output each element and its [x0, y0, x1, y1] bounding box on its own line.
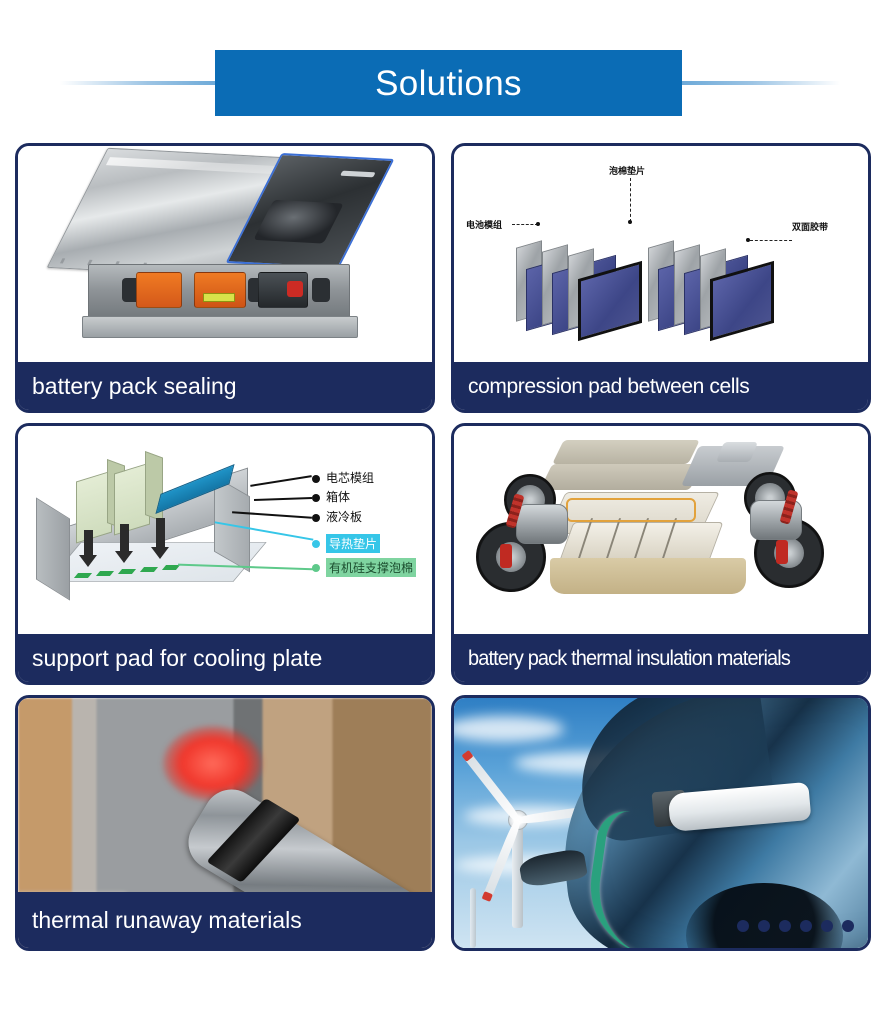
carousel-dot[interactable] [758, 920, 770, 932]
battery-lid-mid [540, 464, 703, 490]
solution-card-support-pad-cooling-plate[interactable]: 电芯模组 箱体 液冷板 导热垫片 有机硅支撑泡棉 support pad [15, 423, 435, 685]
legend-leader-1 [250, 475, 312, 487]
label-double-sided-tape: 双面胶带 [792, 220, 828, 233]
header-band: Solutions [215, 50, 682, 116]
carousel-dot[interactable] [842, 920, 854, 932]
battery-pack-base-rail [82, 316, 358, 338]
carousel-dots[interactable] [737, 920, 854, 932]
legend-bullet-2 [312, 494, 320, 502]
leader-line-foam-pad [630, 178, 631, 222]
header-rule-left-decoration [60, 81, 220, 85]
carousel-dot[interactable] [779, 920, 791, 932]
flame-glow [163, 726, 262, 801]
carousel-dot[interactable] [737, 920, 749, 932]
card-caption-support-pad: support pad for cooling plate [18, 634, 432, 682]
battery-lid-top [552, 440, 700, 464]
card-media-ev-chassis [454, 426, 868, 634]
card-media-battery-pack [18, 146, 432, 362]
label-foam-pad: 泡棉垫片 [609, 164, 645, 177]
card-caption-text: support pad for cooling plate [32, 647, 322, 670]
leader-nub [628, 220, 632, 224]
card-caption-text: battery pack thermal insulation material… [468, 648, 790, 669]
legend-bullet-4 [312, 540, 320, 548]
legend-leader-2 [254, 497, 312, 501]
orange-connector [194, 272, 246, 308]
leader-nub [536, 222, 540, 226]
battery-pack-assembly [66, 152, 366, 342]
card-media-cell-stack: 泡棉垫片 电池模组 双面胶带 [454, 146, 868, 362]
card-caption-text: battery pack sealing [32, 375, 237, 398]
card-media-cooling-plate: 电芯模组 箱体 液冷板 导热垫片 有机硅支撑泡棉 [18, 426, 432, 634]
cooling-plate-diagram: 电芯模组 箱体 液冷板 导热垫片 有机硅支撑泡棉 [18, 426, 432, 634]
assembly-arrow [84, 530, 93, 556]
legend-label-silicone-foam: 有机硅支撑泡棉 [326, 558, 416, 577]
legend-label-thermal-pad: 导热垫片 [326, 534, 380, 553]
card-caption-thermal-runaway: thermal runaway materials [18, 892, 432, 948]
card-caption-compression-pad: compression pad between cells [454, 362, 868, 410]
pack-bottom-shell [550, 558, 746, 594]
assembly-arrow [156, 518, 165, 548]
solution-card-thermal-insulation[interactable]: battery pack thermal insulation material… [451, 423, 871, 685]
page-title: Solutions [375, 66, 522, 101]
header-rule-right-decoration [680, 81, 840, 85]
legend-label-enclosure: 箱体 [326, 488, 350, 505]
turbine-mast-distant [470, 888, 476, 948]
leader-line-double-sided-tape [750, 240, 792, 241]
solution-card-battery-pack-sealing[interactable]: battery pack sealing [15, 143, 435, 413]
front-brake-caliper [500, 544, 512, 568]
legend-bullet-1 [312, 475, 320, 483]
solution-card-compression-pad[interactable]: 泡棉垫片 电池模组 双面胶带 compression pad between c… [451, 143, 871, 413]
ev-chassis-illustration [454, 426, 868, 634]
solution-card-thermal-runaway[interactable]: thermal runaway materials [15, 695, 435, 951]
black-connector [258, 272, 308, 308]
card-media-ev-charging [454, 698, 868, 948]
front-motor [516, 504, 568, 544]
tray-left-wall [36, 497, 70, 600]
leader-line-battery-module [512, 224, 538, 225]
legend-label-cell-module: 电芯模组 [326, 469, 374, 486]
card-caption-text: compression pad between cells [468, 376, 749, 397]
carousel-dot[interactable] [821, 920, 833, 932]
carousel-dot[interactable] [800, 920, 812, 932]
rear-brake-caliper [776, 540, 788, 564]
cell-module-block [76, 470, 112, 543]
solution-card-ev-charging[interactable] [451, 695, 871, 951]
legend-bullet-3 [312, 514, 320, 522]
battery-pack-illustration [18, 146, 432, 362]
card-caption-thermal-insulation: battery pack thermal insulation material… [454, 634, 868, 682]
page-header: Solutions [0, 50, 886, 116]
card-media-torch-test: thermal runaway materials [18, 698, 432, 948]
solutions-page: Solutions [0, 0, 886, 1014]
legend-bullet-5 [312, 564, 320, 572]
orange-connector [136, 272, 182, 308]
legend-label-cooling-plate: 液冷板 [326, 508, 362, 525]
card-caption-text: thermal runaway materials [32, 909, 302, 932]
connector-knob [312, 278, 330, 302]
assembly-arrow [120, 524, 129, 552]
hv-wiring-loom [566, 498, 696, 522]
label-battery-module: 电池模组 [466, 218, 502, 231]
cell-stack-diagram: 泡棉垫片 电池模组 双面胶带 [454, 146, 868, 362]
leader-nub [746, 238, 750, 242]
card-caption-battery-pack-sealing: battery pack sealing [18, 362, 432, 410]
